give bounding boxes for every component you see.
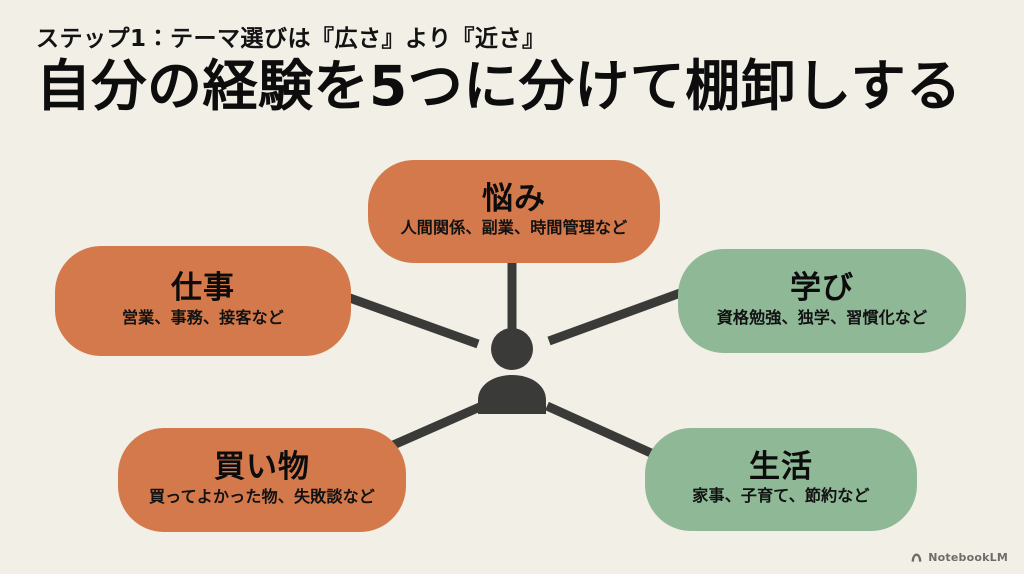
node-title: 仕事 bbox=[171, 271, 235, 306]
node-card-nayami[interactable]: 悩み 人間関係、副業、時間管理など bbox=[368, 160, 660, 263]
notebooklm-logo-icon bbox=[910, 551, 923, 564]
watermark-label: NotebookLM bbox=[928, 551, 1008, 564]
node-subtitle: 買ってよかった物、失敗談など bbox=[149, 487, 375, 506]
connector-center-seikatsu bbox=[547, 406, 651, 453]
node-card-kaimono[interactable]: 買い物 買ってよかった物、失敗談など bbox=[118, 428, 406, 532]
node-subtitle: 家事、子育て、節約など bbox=[692, 486, 869, 505]
connector-center-manabi bbox=[549, 292, 683, 341]
connector-center-kaimono bbox=[391, 406, 482, 446]
node-subtitle: 人間関係、副業、時間管理など bbox=[401, 218, 628, 237]
node-title: 買い物 bbox=[214, 450, 310, 485]
node-card-shigoto[interactable]: 仕事 営業、事務、接客など bbox=[55, 246, 351, 356]
watermark: NotebookLM bbox=[910, 551, 1008, 564]
person-icon bbox=[472, 328, 552, 414]
node-title: 生活 bbox=[749, 450, 813, 485]
node-card-seikatsu[interactable]: 生活 家事、子育て、節約など bbox=[645, 428, 917, 531]
mindmap-diagram: 悩み 人間関係、副業、時間管理など 仕事 営業、事務、接客など 学び 資格勉強、… bbox=[0, 0, 1024, 574]
node-card-manabi[interactable]: 学び 資格勉強、独学、習慣化など bbox=[678, 249, 966, 353]
node-title: 学び bbox=[790, 271, 854, 306]
slide-canvas: ステップ1：テーマ選びは『広さ』より『近さ』 自分の経験を5つに分けて棚卸しする… bbox=[0, 0, 1024, 574]
node-title: 悩み bbox=[482, 182, 546, 217]
node-subtitle: 営業、事務、接客など bbox=[122, 308, 284, 327]
connector-center-shigoto bbox=[347, 297, 478, 344]
node-subtitle: 資格勉強、独学、習慣化など bbox=[717, 308, 928, 327]
